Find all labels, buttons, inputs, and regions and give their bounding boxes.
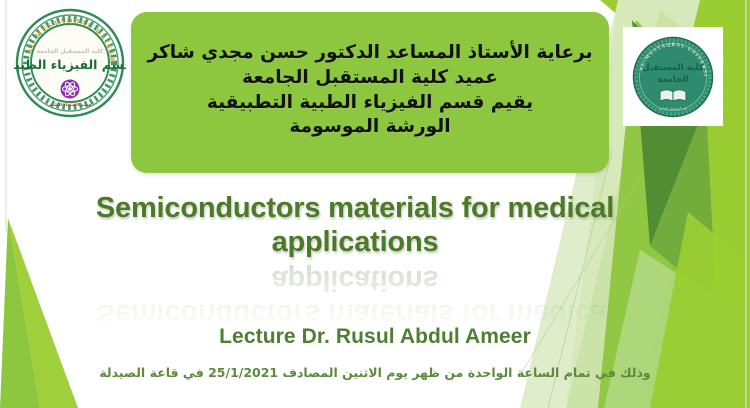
open-book-icon <box>660 89 686 100</box>
banner-line-3: يقيم قسم الفيزياء الطبية التطبيقية <box>207 91 533 116</box>
page-title-block: Semiconductors materials for medical app… <box>55 192 655 260</box>
patronage-banner: برعاية الأستاذ المساعد الدكتور حسن مجدي … <box>131 12 609 173</box>
event-datetime-note: وذلك في تمام الساعة الواحدة من ظهر يوم ا… <box>0 365 750 380</box>
lecturer-name: Lecture Dr. Rusul Abdul Ameer <box>0 325 750 349</box>
seal-bottom-caption: قسم الفيزياء الطبية <box>49 102 91 107</box>
seal-arabic-top: كلية المستقبل الجامعة <box>37 48 104 55</box>
right-seal-arabic-1: كلية المستقبل <box>642 63 704 73</box>
right-seal-bottom-caption: كلية المستقبل الجامعة <box>659 106 688 110</box>
presentation-title-slide: AL-MUSTAQBAL UNIVERSITY COLLEGE كلية الم… <box>0 0 750 408</box>
right-seal-arabic-2: الجامعة <box>658 75 689 85</box>
atom-icon <box>61 80 80 99</box>
right-university-seal-card: AL-MUSTAQBAL UNIVERSITY COLLEGE كلية الم… <box>623 27 723 126</box>
banner-line-4: الورشة الموسومة <box>289 115 450 140</box>
banner-line-2: عميد كلية المستقبل الجامعة <box>242 66 498 91</box>
decor-dark-triangle-2 <box>650 104 716 300</box>
page-title-reflection: Semiconductors materials for medical app… <box>55 262 655 330</box>
right-university-seal-logo: AL-MUSTAQBAL UNIVERSITY COLLEGE كلية الم… <box>630 34 716 120</box>
left-university-seal-logo: AL-MUSTAQBAL UNIVERSITY COLLEGE كلية الم… <box>14 7 126 119</box>
banner-line-1: برعاية الأستاذ المساعد الدكتور حسن مجدي … <box>147 41 592 66</box>
decor-top-right-corner-dark <box>660 0 750 30</box>
page-title: Semiconductors materials for medical app… <box>55 192 655 260</box>
seal-arabic-main: قسم الفيزياء الطبية <box>14 57 126 72</box>
